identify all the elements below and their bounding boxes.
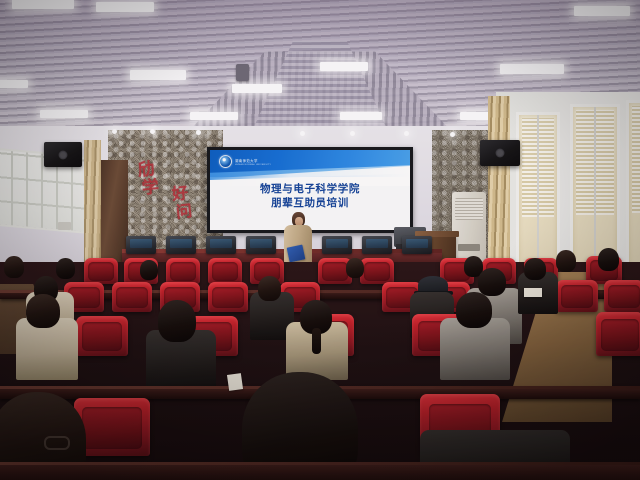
window-mullion — [537, 115, 539, 279]
ceiling-panel-light — [190, 112, 238, 120]
ceiling-panel-light — [500, 64, 564, 74]
wall-outlet-plate — [58, 222, 71, 230]
audience-head — [26, 294, 60, 328]
audience-ponytail — [312, 328, 321, 354]
speaker-cone-icon — [59, 150, 68, 159]
track-spot-light — [300, 131, 305, 136]
university-name-block: 湖南师范大学 HUNAN NORMAL UNIVERSITY — [235, 158, 271, 166]
seat-pad — [322, 262, 349, 281]
auditorium-seat — [360, 258, 394, 284]
slide-logo: 湖南师范大学 HUNAN NORMAL UNIVERSITY — [219, 155, 271, 168]
ceiling-panel-light — [96, 2, 154, 12]
slide-title-line-2: 朋辈互助员培训 — [210, 196, 410, 210]
seat-pad — [170, 262, 197, 281]
seat-pad — [608, 285, 639, 308]
row-desk-edge — [0, 462, 640, 465]
audience-head — [56, 258, 75, 279]
seat-pad — [82, 407, 141, 449]
seat-pad — [601, 319, 638, 351]
slide-title-line-1: 物理与电子科学学院 — [210, 182, 410, 196]
stage-monitor — [362, 236, 392, 254]
seat-pad — [82, 322, 123, 351]
window-right-1 — [516, 112, 560, 282]
window-right-3 — [626, 100, 640, 284]
audience-head — [258, 276, 281, 301]
ceiling-panel-light — [320, 62, 368, 71]
ceiling-panel-light — [232, 84, 282, 93]
ceiling-panel-light — [340, 112, 382, 120]
auditorium-seat — [596, 312, 640, 356]
projector — [236, 64, 249, 81]
track-spot-light — [112, 129, 117, 134]
university-name-cn: 湖南师范大学 — [235, 158, 271, 163]
auditorium-seat — [208, 258, 242, 284]
stage-monitor — [206, 236, 236, 254]
audience-head — [4, 256, 24, 278]
seat-pad — [212, 287, 243, 309]
seat-pad — [116, 287, 147, 309]
speaker-cone-icon — [496, 149, 505, 158]
window-mullion — [594, 107, 596, 281]
ceiling-panel-light — [0, 80, 28, 88]
track-spot-light — [350, 131, 355, 136]
eyeglasses-icon — [44, 436, 70, 450]
audience-head — [456, 292, 492, 328]
desk-paper — [227, 373, 243, 391]
audience-head — [158, 300, 196, 342]
row-desk-foreground — [0, 462, 640, 480]
auditorium-seat — [556, 280, 598, 312]
seat-pad — [561, 285, 594, 308]
ceiling-panel-light — [40, 110, 88, 118]
track-spot-light — [450, 132, 455, 137]
audience-head — [478, 268, 506, 296]
audience-head — [524, 258, 546, 280]
auditorium-seat — [76, 316, 128, 356]
audience-head — [140, 260, 158, 280]
desk-paper — [524, 288, 542, 297]
wall-calligraphy-char-4: 问 — [175, 203, 192, 220]
seat-pad — [88, 262, 115, 281]
stage-monitor — [126, 236, 156, 254]
wall-calligraphy-char-3: 好 — [171, 185, 188, 202]
ceiling-panel-light — [574, 6, 630, 16]
stage-monitor — [402, 236, 432, 254]
lecture-hall-photo: 劤 学 好 问 湖南师范大学 HUNAN NORMAL UNIVERSITY 物… — [0, 0, 640, 480]
auditorium-seat — [604, 280, 640, 312]
track-spot-light — [150, 129, 155, 134]
ac-vent-grille — [455, 198, 483, 220]
auditorium-seat — [208, 282, 248, 312]
ceiling-panel-light — [130, 70, 186, 80]
audience-head — [598, 248, 619, 271]
university-name-en: HUNAN NORMAL UNIVERSITY — [235, 164, 271, 166]
track-spot-light — [404, 131, 409, 136]
auditorium-seat — [84, 258, 118, 284]
ac-control-panel — [458, 244, 480, 251]
stage-monitor — [322, 236, 352, 254]
auditorium-seat — [166, 258, 200, 284]
wall-speaker-left — [44, 142, 82, 167]
stage-monitor — [166, 236, 196, 254]
university-emblem-icon — [219, 155, 232, 168]
wall-speaker-right — [480, 140, 520, 166]
seat-pad — [364, 262, 391, 281]
stage-monitor — [246, 236, 276, 254]
wall-calligraphy-char-2: 学 — [141, 179, 159, 197]
track-spot-light — [196, 130, 201, 135]
ceiling-panel-light — [12, 0, 74, 9]
seat-pad — [212, 262, 239, 281]
audience-head — [346, 258, 364, 278]
auditorium-seat — [112, 282, 152, 312]
window-blind — [632, 106, 640, 213]
audience-head — [556, 250, 576, 272]
slide-title-block: 物理与电子科学学院 朋辈互助员培训 — [210, 182, 410, 210]
wall-calligraphy-char-1: 劤 — [137, 161, 155, 179]
